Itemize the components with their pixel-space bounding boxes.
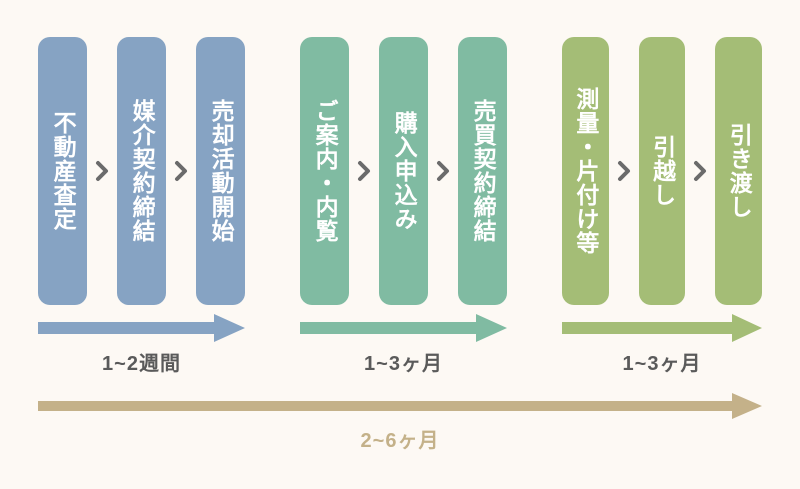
duration-label: 1~3ヶ月 <box>300 347 507 376</box>
chevron-right-icon <box>166 37 196 305</box>
chevron-right-icon <box>428 37 458 305</box>
duration-arrow-icon <box>38 313 245 343</box>
step-label: 売買契約締結 <box>469 99 496 243</box>
step-box[interactable]: 引き渡し <box>715 37 762 305</box>
step-box[interactable]: 売却活動開始 <box>196 37 245 305</box>
duration-label: 1~3ヶ月 <box>562 347 762 376</box>
step-label: ご案内・内覧 <box>311 99 338 243</box>
step-box-row: ご案内・内覧 購入申込み 売買契約締結 <box>300 37 507 305</box>
step-label: 売却活動開始 <box>207 99 234 243</box>
chevron-right-icon <box>609 37 639 305</box>
chevron-right-icon <box>349 37 379 305</box>
phase-groups-row: 不動産査定 媒介契約締結 売却活動開始 <box>0 0 800 390</box>
step-label: 媒介契約締結 <box>128 99 155 243</box>
phase-duration: 1~2週間 <box>38 313 245 376</box>
duration-arrow-icon <box>300 313 507 343</box>
phase-group-handover: 測量・片付け等 引越し 引き渡し <box>562 0 762 390</box>
step-label: 測量・片付け等 <box>572 87 599 255</box>
phase-duration: 1~3ヶ月 <box>562 313 762 376</box>
step-box-row: 不動産査定 媒介契約締結 売却活動開始 <box>38 37 245 305</box>
chevron-right-icon <box>87 37 117 305</box>
step-box[interactable]: ご案内・内覧 <box>300 37 349 305</box>
process-flow-diagram: 不動産査定 媒介契約締結 売却活動開始 <box>0 0 800 489</box>
step-box[interactable]: 不動産査定 <box>38 37 87 305</box>
duration-arrow-icon <box>562 313 762 343</box>
step-label: 購入申込み <box>390 111 417 231</box>
total-duration: 2~6ヶ月 <box>38 392 762 453</box>
step-box[interactable]: 購入申込み <box>379 37 428 305</box>
step-box[interactable]: 引越し <box>639 37 686 305</box>
phase-group-listing: 不動産査定 媒介契約締結 売却活動開始 <box>38 0 245 390</box>
step-label: 引き渡し <box>725 123 752 219</box>
chevron-right-icon <box>685 37 715 305</box>
step-label: 不動産査定 <box>49 111 76 231</box>
duration-label: 1~2週間 <box>38 347 245 376</box>
phase-group-sales: ご案内・内覧 購入申込み 売買契約締結 <box>300 0 507 390</box>
total-duration-label: 2~6ヶ月 <box>38 424 762 453</box>
total-duration-arrow-icon <box>38 392 762 420</box>
step-box-row: 測量・片付け等 引越し 引き渡し <box>562 37 762 305</box>
step-box[interactable]: 測量・片付け等 <box>562 37 609 305</box>
step-box[interactable]: 媒介契約締結 <box>117 37 166 305</box>
phase-duration: 1~3ヶ月 <box>300 313 507 376</box>
step-box[interactable]: 売買契約締結 <box>458 37 507 305</box>
step-label: 引越し <box>648 135 675 207</box>
